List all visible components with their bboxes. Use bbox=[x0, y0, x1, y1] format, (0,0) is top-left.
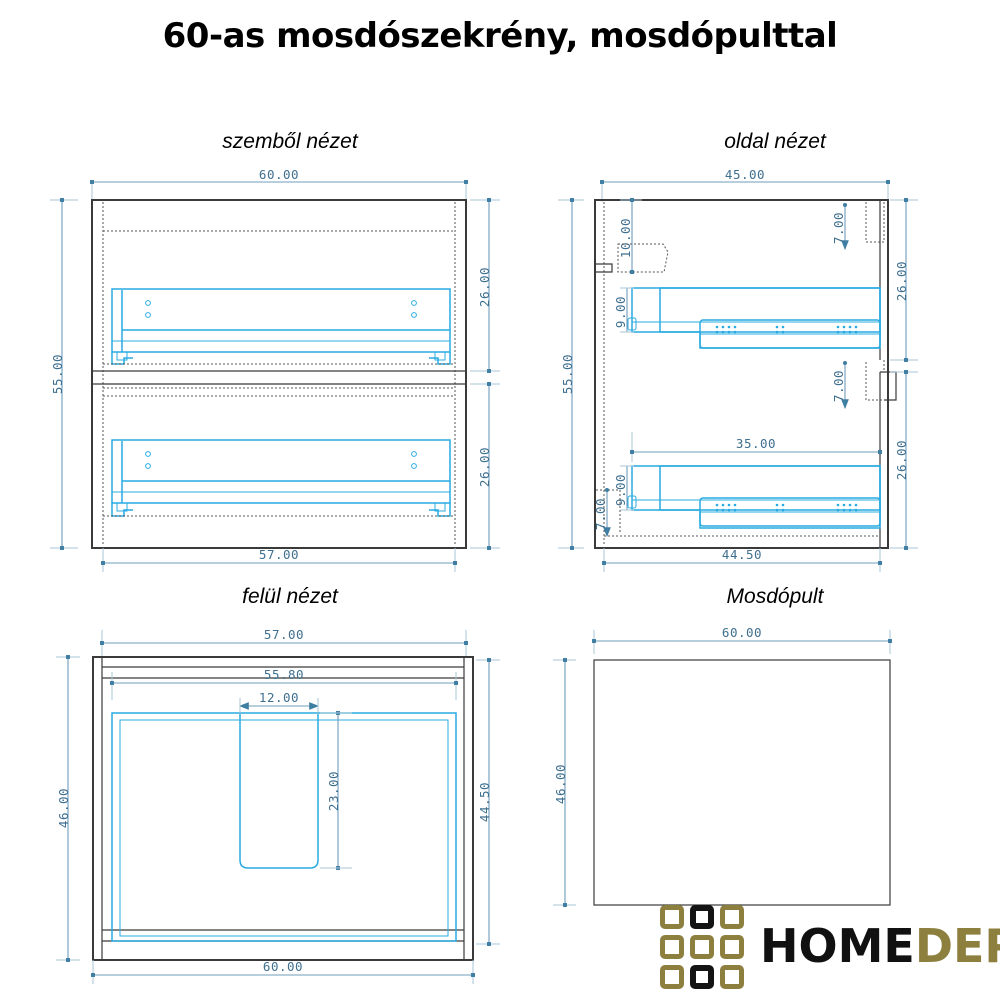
dim-countertop-width: 60.00 bbox=[722, 625, 762, 640]
dim-front-upper-drawer: 26.00 bbox=[477, 267, 492, 307]
logo-cell-2-2 bbox=[720, 965, 744, 989]
drawing-canvas: .dim{stroke:#6f9dbb;stroke-width:1.1;fil… bbox=[0, 0, 1000, 1000]
dim-side-handle-upper-right: 7.00 bbox=[831, 212, 846, 244]
logo-cell-0-2 bbox=[720, 905, 744, 929]
front-view-drawing: 60.00 bbox=[50, 167, 500, 572]
countertop-view-drawing: 60.00 46.00 bbox=[553, 625, 890, 905]
side-view-drawing: 45.00 10.00 7.00 26.00 bbox=[558, 167, 918, 572]
logo-cell-1-2 bbox=[720, 935, 744, 959]
side-lower-drawer bbox=[628, 466, 880, 528]
dim-side-top-depth: 45.00 bbox=[725, 167, 765, 182]
dim-side-lower-section: 26.00 bbox=[894, 440, 909, 480]
logo-cell-0-0 bbox=[660, 905, 684, 929]
logo-text-home: HOME bbox=[760, 919, 915, 973]
logo-wordmark: HOMEDEPO bbox=[760, 921, 1000, 971]
dim-top-outer-depth: 46.00 bbox=[56, 788, 71, 828]
logo-cell-1-0 bbox=[660, 935, 684, 959]
dim-countertop-depth: 46.00 bbox=[553, 764, 568, 804]
dim-side-bottom-depth: 44.50 bbox=[722, 547, 762, 562]
sink-cutout bbox=[240, 712, 318, 868]
dim-top-inner-width: 57.00 bbox=[264, 627, 304, 642]
logo-grid-icon bbox=[660, 905, 746, 991]
dim-front-top-width: 60.00 bbox=[259, 167, 299, 182]
dim-top-drawer-width: 55.80 bbox=[264, 667, 304, 682]
dim-side-height: 55.00 bbox=[560, 354, 575, 394]
dim-front-bottom-width: 57.00 bbox=[259, 547, 299, 562]
homedepo-logo: HOMEDEPO bbox=[660, 905, 990, 993]
front-upper-drawer bbox=[103, 289, 455, 364]
countertop-outline bbox=[594, 660, 890, 905]
dim-side-drawer-depth: 35.00 bbox=[736, 436, 776, 451]
front-lower-drawer bbox=[103, 440, 455, 516]
top-view-drawing: 57.00 55.80 12.00 bbox=[56, 627, 500, 984]
dim-top-cutout-width: 12.00 bbox=[259, 690, 299, 705]
dim-side-slide-upper: 9.00 bbox=[613, 296, 628, 328]
logo-cell-2-0 bbox=[660, 965, 684, 989]
logo-cell-1-1 bbox=[690, 935, 714, 959]
dim-side-handle-lower-right: 7.00 bbox=[831, 370, 846, 402]
technical-drawing-page: 60-as mosdószekrény, mosdópulttal szembő… bbox=[0, 0, 1000, 1000]
dim-side-handle-lower-left: 7.00 bbox=[593, 498, 608, 530]
logo-cell-0-1 bbox=[690, 905, 714, 929]
dim-front-lower-drawer: 26.00 bbox=[477, 447, 492, 487]
logo-text-depo: DEPO bbox=[915, 919, 1000, 973]
dim-side-top-inset: 10.00 bbox=[618, 218, 633, 258]
logo-cell-2-1 bbox=[690, 965, 714, 989]
dim-top-inner-depth: 44.50 bbox=[477, 782, 492, 822]
dim-side-upper-section: 26.00 bbox=[894, 261, 909, 301]
side-upper-drawer bbox=[628, 288, 880, 348]
dim-front-height: 55.00 bbox=[50, 354, 65, 394]
dim-top-outer-width: 60.00 bbox=[263, 959, 303, 974]
dim-top-cutout-depth: 23.00 bbox=[326, 771, 341, 811]
